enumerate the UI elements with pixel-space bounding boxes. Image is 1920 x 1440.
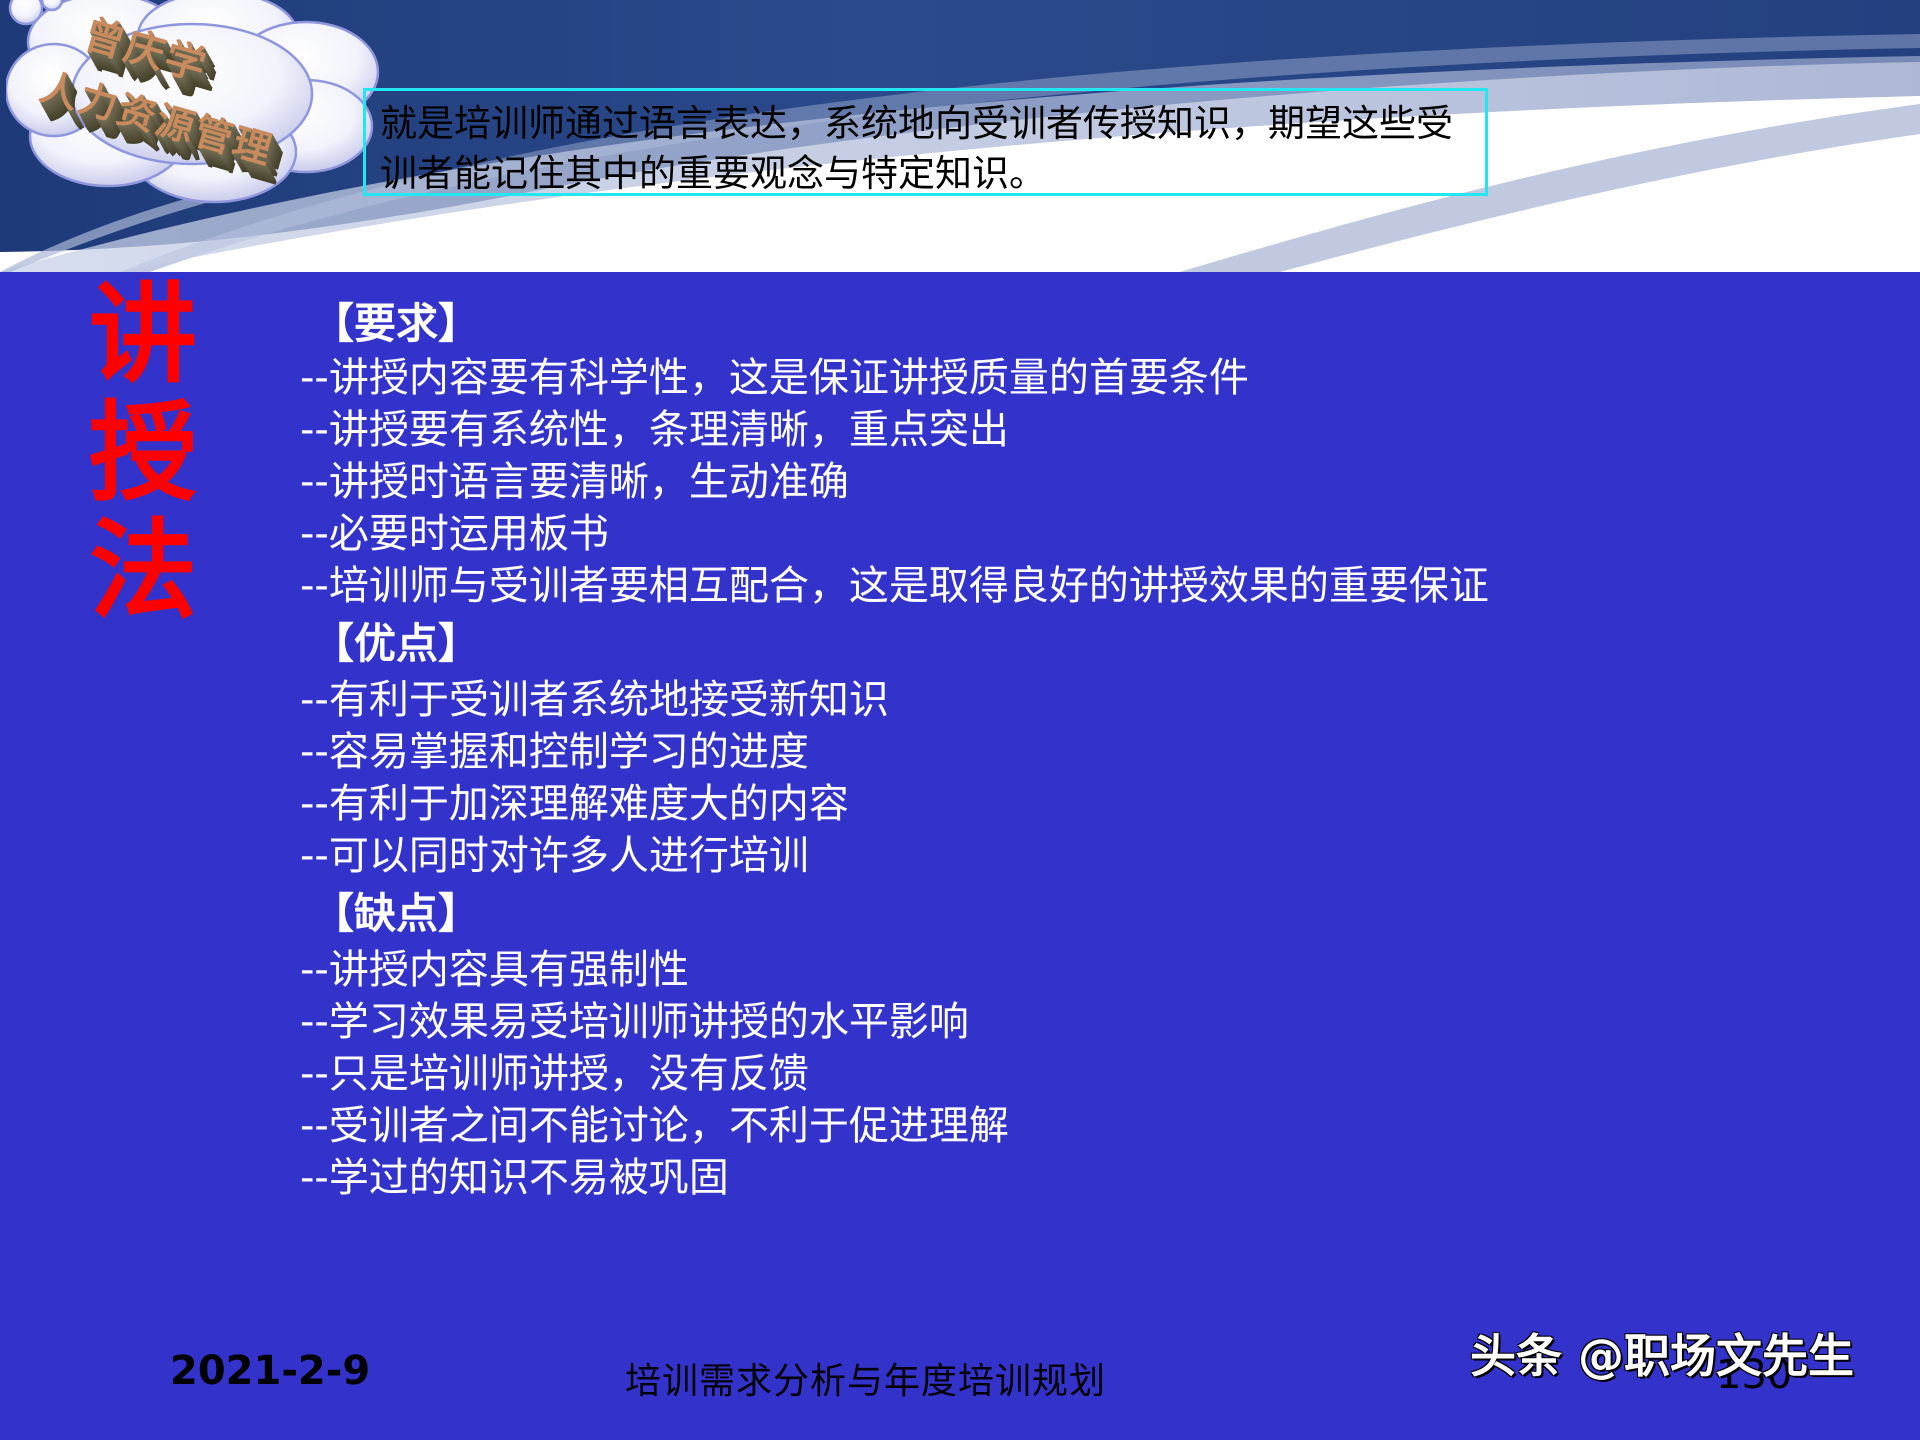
list-item: --受训者之间不能讨论，不利于促进理解 — [300, 1100, 1872, 1152]
footer-deck-title: 培训需求分析与年度培训规划 — [625, 1352, 1106, 1404]
list-item: --培训师与受训者要相互配合，这是取得良好的讲授效果的重要保证 — [300, 560, 1872, 612]
slide-canvas: 曾庆学 人力资源管理 就是培训师通过语言表达，系统地向受训者传授知识，期望这些受… — [0, 0, 1920, 1440]
definition-box: 就是培训师通过语言表达，系统地向受训者传授知识，期望这些受训者能记住其中的重要观… — [363, 88, 1488, 196]
section-heading-disadvantages: 【缺点】 — [312, 886, 1872, 942]
list-item: --必要时运用板书 — [300, 508, 1872, 560]
section-heading-requirements: 【要求】 — [312, 296, 1872, 352]
cloud-shape-icon — [6, 0, 406, 209]
list-item: --有利于加深理解难度大的内容 — [300, 778, 1872, 830]
list-item: --讲授时语言要清晰，生动准确 — [300, 456, 1872, 508]
list-item: --讲授内容要有科学性，这是保证讲授质量的首要条件 — [300, 352, 1872, 404]
footer-date: 2021-2-9 — [170, 1348, 370, 1394]
definition-text: 就是培训师通过语言表达，系统地向受训者传授知识，期望这些受训者能记住其中的重要观… — [380, 99, 1471, 199]
list-item: --容易掌握和控制学习的进度 — [300, 726, 1872, 778]
vtitle-char-2: 授 — [78, 394, 208, 512]
vtitle-char-1: 讲 — [78, 276, 208, 394]
vertical-method-title: 讲 授 法 — [78, 276, 208, 630]
logo-cloud: 曾庆学 人力资源管理 — [6, 0, 406, 209]
list-item: --学习效果易受培训师讲授的水平影响 — [300, 996, 1872, 1048]
watermark-handle: 头条 @职场文先生 — [1470, 1320, 1854, 1386]
section-heading-advantages: 【优点】 — [312, 616, 1872, 672]
list-item: --有利于受训者系统地接受新知识 — [300, 674, 1872, 726]
list-item: --学过的知识不易被巩固 — [300, 1152, 1872, 1204]
list-item: --可以同时对许多人进行培训 — [300, 830, 1872, 882]
list-item: --只是培训师讲授，没有反馈 — [300, 1048, 1872, 1100]
vtitle-char-3: 法 — [78, 512, 208, 630]
content-column: 【要求】 --讲授内容要有科学性，这是保证讲授质量的首要条件 --讲授要有系统性… — [312, 296, 1872, 1204]
list-item: --讲授内容具有强制性 — [300, 944, 1872, 996]
list-item: --讲授要有系统性，条理清晰，重点突出 — [300, 404, 1872, 456]
